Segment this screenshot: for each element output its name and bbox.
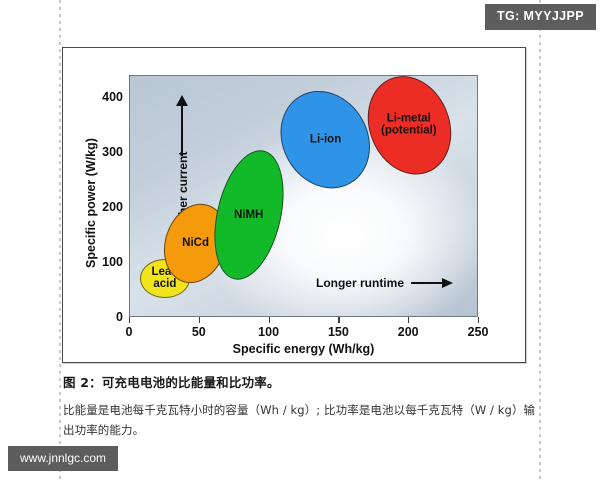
x-tick-mark: [408, 317, 409, 323]
plot-area: Higher current Longer runtime LeadacidNi…: [129, 75, 478, 317]
right-arrow-icon: [411, 278, 453, 289]
longer-runtime-annotation: Longer runtime: [316, 276, 453, 290]
bubble-label: Li-metal(potential): [381, 113, 437, 138]
content-column-guide-left: [59, 0, 61, 480]
telegram-handle-badge: TG: MYYJJPP: [485, 4, 596, 30]
x-tick-label: 150: [328, 325, 349, 339]
figure-caption: 图 2：可充电电池的比能量和比功率。 比能量是电池每千克瓦特小时的容量（Wh /…: [63, 372, 541, 440]
y-tick-label: 200: [63, 200, 123, 214]
x-tick-mark: [269, 317, 270, 323]
x-tick-label: 50: [192, 325, 206, 339]
figure-card: Specific power (W/kg) Specific energy (W…: [62, 47, 526, 363]
bubble-label: NiCd: [182, 238, 209, 250]
caption-body: 比能量是电池每千克瓦特小时的容量（Wh / kg）; 比功率是电池以每千克瓦特（…: [63, 400, 541, 440]
page-root: TG: MYYJJPP www.jnnlgc.com Specific powe…: [0, 0, 600, 480]
y-tick-label: 100: [63, 255, 123, 269]
x-tick-label: 250: [468, 325, 489, 339]
y-tick-label: 0: [63, 310, 123, 324]
x-tick-label: 200: [398, 325, 419, 339]
battery-bubble-li-metal-potential: Li-metal(potential): [353, 75, 465, 187]
battery-energy-power-chart: Specific power (W/kg) Specific energy (W…: [63, 48, 527, 364]
x-tick-label: 100: [258, 325, 279, 339]
caption-title: 图 2：可充电电池的比能量和比功率。: [63, 372, 541, 391]
y-tick-label: 400: [63, 90, 123, 104]
bubble-label: NiMH: [234, 208, 263, 220]
x-axis-title: Specific energy (Wh/kg): [129, 342, 478, 356]
x-tick-mark: [338, 317, 339, 323]
x-tick-mark: [199, 317, 200, 323]
bubble-label: Li-ion: [310, 133, 341, 145]
longer-runtime-label: Longer runtime: [316, 276, 404, 290]
x-tick-mark: [478, 317, 479, 323]
y-tick-label: 300: [63, 145, 123, 159]
x-tick-label: 0: [126, 325, 133, 339]
site-watermark: www.jnnlgc.com: [8, 446, 118, 471]
x-tick-mark: [129, 317, 130, 323]
